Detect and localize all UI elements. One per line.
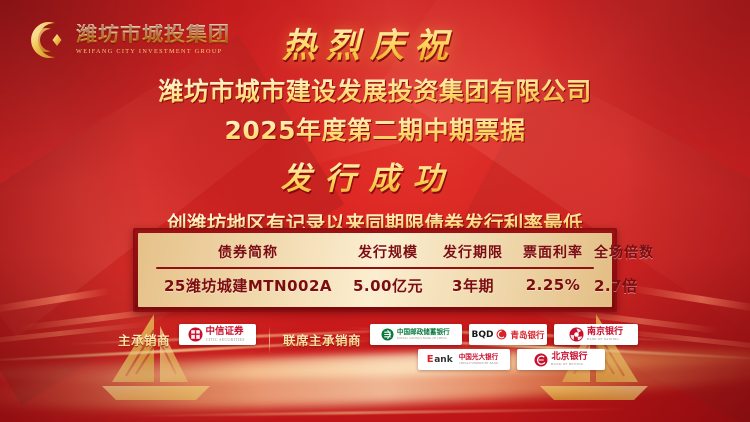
bank-of-beijing-logo: 北京银行 BANK OF BEIJING [517,349,605,370]
nanjing-name-cn: 南京银行 [587,328,623,337]
citic-securities-logo-icon [188,327,203,342]
qingdao-name-cn: 青岛银行 [510,329,544,341]
psbc-name-cn: 中国邮政储蓄银行 [397,329,450,336]
column-header-bid-multiple: 全场倍数 [594,242,654,262]
everbright-name-cn: 中国光大银行 [459,354,499,361]
issue-subtitle: 2025年度第二期中期票据 [0,111,750,147]
everbright-name-en: CHINA EVERBRIGHT BANK [459,362,498,365]
bank-of-beijing-logo-icon [534,353,548,367]
company-name-title: 潍坊市城市建设发展投资集团有限公司 [0,72,750,108]
everbright-bank-logo: E ank 中国光大银行 CHINA EVERBRIGHT BANK [418,349,510,370]
joint-underwriter-logos: 中国邮政储蓄银行 POSTAL SAVINGS BANK OF CHINA BQ… [370,324,638,370]
cell-coupon-rate: 2.25% [512,276,594,294]
section-divider [269,326,270,354]
cell-bid-multiple: 2.7倍 [594,275,638,296]
underwriters-section: 主承销商 中信证券 CITIC SECURITIES 联席主承销商 [118,324,638,370]
psbc-name-en: POSTAL SAVINGS BANK OF CHINA [397,337,447,340]
bank-of-nanjing-logo: 南京银行 BANK OF NANJING [554,324,638,345]
celebration-poster: 潍坊市城投集团 WEIFANG CITY INVESTMENT GROUP 热烈… [0,0,750,422]
bond-details-table: 债券简称 发行规模 发行期限 票面利率 全场倍数 25潍坊城建MTN002A 5… [133,228,617,312]
bank-of-nanjing-logo-icon [569,327,584,342]
headline-block: 热烈庆祝 潍坊市城市建设发展投资集团有限公司 2025年度第二期中期票据 发行成… [0,18,750,236]
cell-issue-term: 3年期 [434,275,512,296]
column-header-bond-name: 债券简称 [154,242,342,262]
column-header-coupon-rate: 票面利率 [512,242,594,262]
joint-logo-row: E ank 中国光大银行 CHINA EVERBRIGHT BANK 北京银行 [370,349,638,370]
beijing-name-en: BANK OF BEIJING [551,363,584,366]
beijing-name-cn: 北京银行 [551,353,587,362]
citic-name-cn: 中信证券 [206,327,244,337]
lead-underwriter-label: 主承销商 [118,324,170,349]
cell-issue-size: 5.00亿元 [342,275,434,296]
postal-savings-bank-logo-icon [381,328,394,341]
postal-savings-bank-logo: 中国邮政储蓄银行 POSTAL SAVINGS BANK OF CHINA [370,324,462,345]
bank-of-qingdao-logo: BQD 青岛银行 [469,324,547,345]
joint-logo-row: 中国邮政储蓄银行 POSTAL SAVINGS BANK OF CHINA BQ… [370,324,638,345]
bqd-abbrev: BQD [472,330,494,340]
everbright-wordmark: ank [434,355,452,365]
nanjing-name-en: BANK OF NANJING [587,338,619,341]
bank-of-qingdao-logo-icon [496,329,507,340]
column-header-issue-term: 发行期限 [434,242,512,262]
everbright-mark-icon: E [427,354,434,365]
joint-underwriters-label: 联席主承销商 [283,324,361,349]
celebrate-title: 热烈庆祝 [0,18,750,67]
table-header-row: 债券简称 发行规模 发行期限 票面利率 全场倍数 [154,237,596,267]
decor-shard [630,285,750,312]
table-row: 25潍坊城建MTN002A 5.00亿元 3年期 2.25% 2.7倍 [154,269,596,301]
cell-bond-name: 25潍坊城建MTN002A [154,275,342,296]
decor-shard [0,288,110,314]
citic-name-en: CITIC SECURITIES [206,338,245,342]
success-title: 发行成功 [0,153,750,198]
citic-securities-logo: 中信证券 CITIC SECURITIES [179,324,256,345]
column-header-issue-size: 发行规模 [342,242,434,262]
